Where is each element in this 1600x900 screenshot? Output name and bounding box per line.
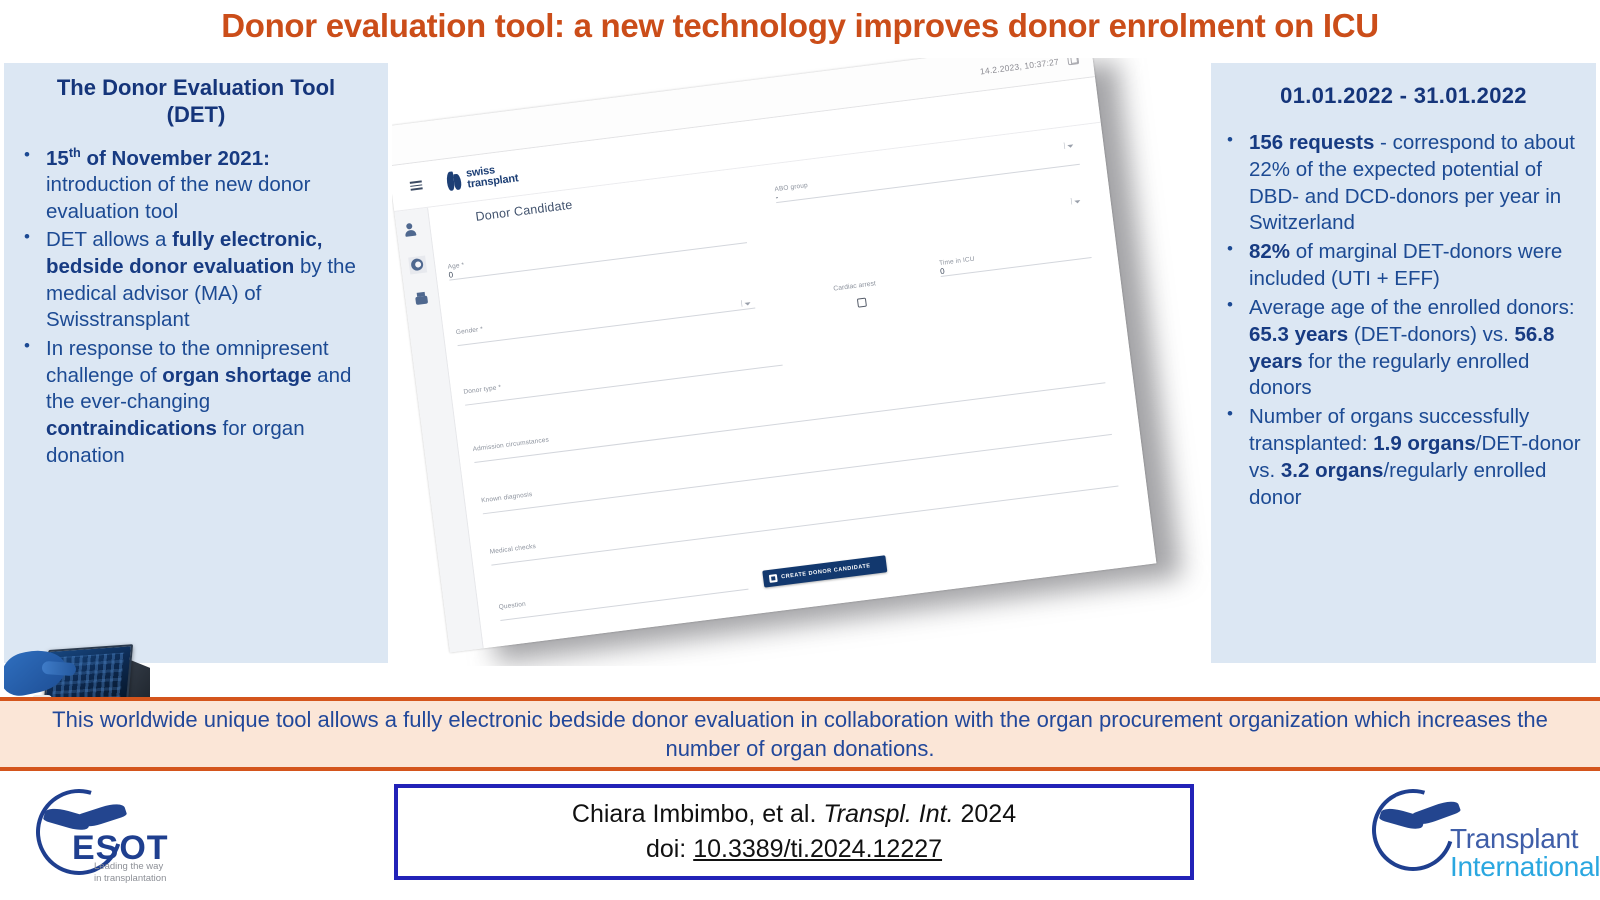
left-panel-bullet-list: 15th of November 2021: introduction of t… [4,145,388,470]
donor-candidate-form: Donor Candidate | ABO group - | [428,123,1156,648]
det-browser-window: 14.2.2023, 10:37:27 swiss transplant [392,58,1156,653]
citation-doi-label: doi: [646,835,693,863]
printer-icon[interactable] [413,290,432,309]
create-donor-candidate-button[interactable]: CREATE DONOR CANDIDATE [762,555,887,587]
left-panel-heading: The Donor Evaluation Tool (DET) [4,63,388,129]
people-icon[interactable] [404,221,423,240]
det-application-screenshot: 14.2.2023, 10:37:27 swiss transplant [392,58,1210,666]
esot-tagline-line2: in transplantation [94,873,166,884]
conclusion-text: This worldwide unique tool allows a full… [46,705,1554,763]
right-panel-bullet-list: 156 requests - correspond to about 22% o… [1211,130,1596,512]
esot-logo: ESOT Leading the way in transplantation [28,785,218,885]
citation-year: 2024 [954,800,1017,828]
session-timestamp: 14.2.2023, 10:37:27 [979,58,1059,76]
chevron-down-icon-2 [1074,200,1080,204]
conclusion-banner: This worldwide unique tool allows a full… [0,697,1600,771]
right-results-panel: 01.01.2022 - 31.01.2022 156 requests - c… [1211,63,1596,663]
field-donor-type-label: Donor type * [463,349,781,396]
citation-authors: Chiara Imbimbo, et al. [572,800,824,828]
hamburger-menu-icon[interactable] [399,179,434,192]
screenshot-icon[interactable] [1067,58,1079,65]
right-bullet-item-0: 156 requests - correspond to about 22% o… [1219,130,1586,237]
field-donor-type-value [464,356,783,406]
poster-title-bar: Donor evaluation tool: a new technology … [0,0,1600,52]
swisstransplant-logo: swiss transplant [446,162,519,193]
citation-doi-value[interactable]: 10.3389/ti.2024.12227 [693,835,942,863]
save-icon [769,573,778,582]
left-bullet-item-1: DET allows a fully electronic, bedside d… [16,227,378,334]
citation-box: Chiara Imbimbo, et al. Transpl. Int. 202… [394,784,1194,880]
poster-footer: ESOT Leading the way in transplantation … [0,771,1600,900]
page-title: Donor evaluation tool: a new technology … [221,7,1379,45]
left-panel-heading-line2: (DET) [30,102,362,129]
field-donor-type-extension[interactable] [793,301,1099,355]
left-panel-heading-line1: The Donor Evaluation Tool [30,75,362,102]
right-panel-heading: 01.01.2022 - 31.01.2022 [1211,63,1596,110]
chevron-down-icon-3 [745,302,751,306]
cardiac-arrest-checkbox[interactable] [857,298,867,308]
left-bullet-item-0: 15th of November 2021: introduction of t… [16,145,378,226]
field-gender[interactable]: Gender * | [456,292,756,346]
cardiac-arrest-label: Cardiac arrest [833,280,876,292]
lifebuoy-icon[interactable] [408,256,427,275]
create-donor-candidate-label: CREATE DONOR CANDIDATE [781,563,871,580]
citation-journal: Transpl. Int. [823,800,953,828]
gloved-finger [42,661,77,676]
field-question[interactable]: Question [498,573,748,621]
citation-doi-line: doi: 10.3389/ti.2024.12227 [646,835,942,864]
esot-tagline-line1: Leading the way [94,861,163,872]
field-medical-checks-label: Medical checks [489,470,1117,556]
poster-root: Donor evaluation tool: a new technology … [0,0,1600,900]
field-time-in-icu[interactable]: Time in ICU 0 [939,241,1092,277]
left-bullet-item-2: In response to the omnipresent challenge… [16,336,378,469]
left-info-panel: The Donor Evaluation Tool (DET) 15th of … [4,63,388,663]
right-bullet-item-2: Average age of the enrolled donors: 65.3… [1219,295,1586,402]
swisstransplant-mark-icon [446,169,464,192]
field-donor-type[interactable]: Donor type * [463,349,783,406]
right-bullet-item-1: 82% of marginal DET-donors were included… [1219,239,1586,293]
transplant-international-logo: Transplant International [1368,785,1593,885]
right-bullet-item-3: Number of organs successfully transplant… [1219,404,1586,511]
citation-reference: Chiara Imbimbo, et al. Transpl. Int. 202… [572,800,1016,829]
ti-wordmark-line2: International [1450,851,1600,883]
